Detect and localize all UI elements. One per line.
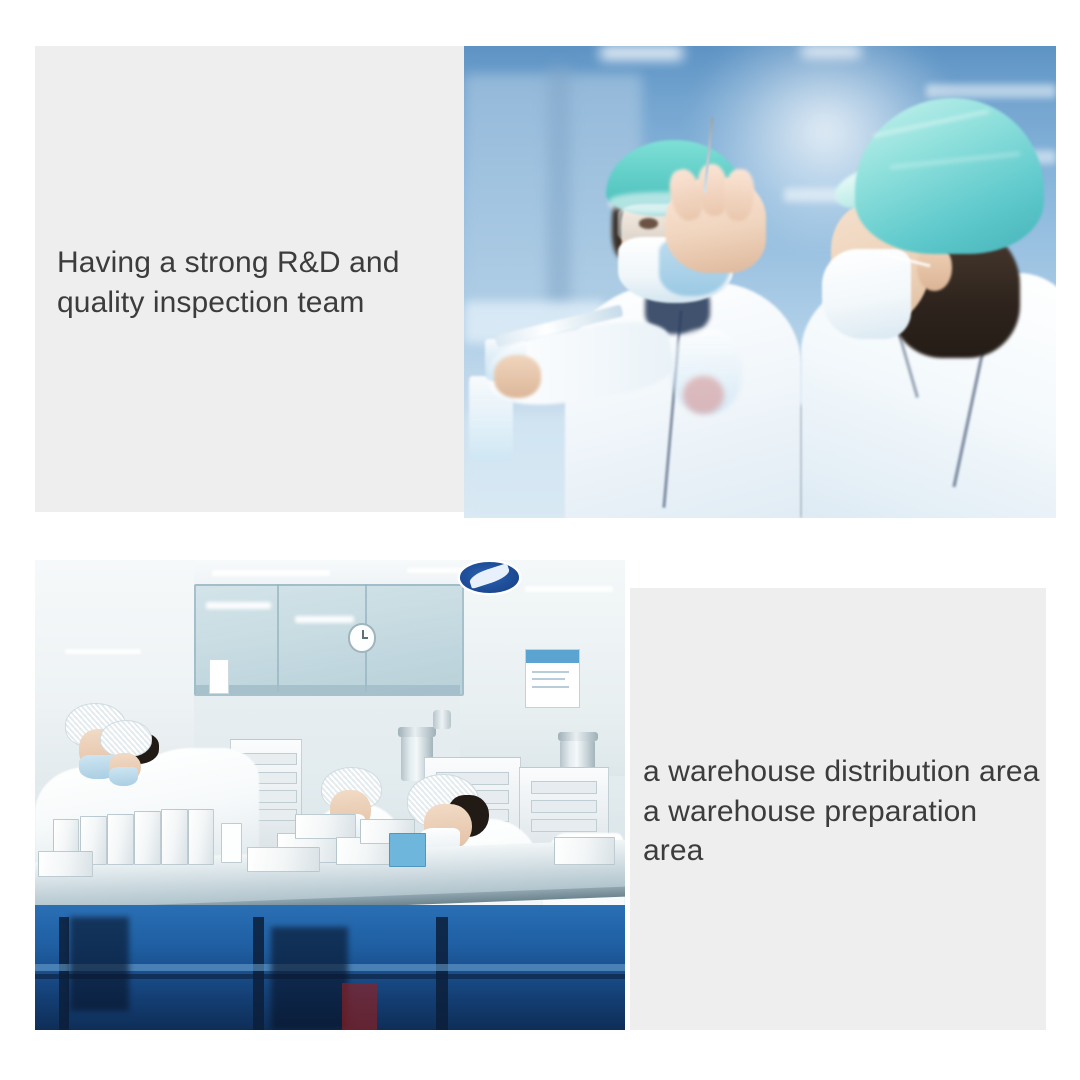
under-table-shadow	[70, 917, 129, 1011]
banner-page: Having a strong R&D and quality inspecti…	[0, 0, 1080, 1080]
poster-text-line	[532, 671, 569, 673]
steel-pot	[433, 710, 451, 729]
technician-right-face-mask	[822, 249, 911, 339]
box-stack-seam	[531, 819, 598, 832]
carton-box	[554, 837, 615, 865]
window-mullion	[277, 584, 279, 692]
canister-lid	[558, 732, 598, 741]
technician-left-eye	[639, 218, 658, 228]
product-box	[161, 809, 188, 865]
product-bottle	[221, 823, 242, 863]
canister-lid	[398, 727, 435, 736]
worker-bending-hairnet	[100, 720, 152, 757]
clock-hand-hour	[362, 637, 368, 639]
worker-bending-mask	[109, 767, 139, 786]
blue-label-item	[389, 833, 426, 868]
wall-notice-poster	[525, 649, 580, 707]
bottom-caption-text: a warehouse distribution area a warehous…	[643, 752, 1043, 871]
carton-box	[247, 847, 320, 873]
window-sill	[194, 685, 460, 694]
product-box	[188, 809, 214, 865]
carton-box	[295, 814, 356, 840]
fluorescent-tube-icon	[525, 586, 614, 592]
cleanroom-window	[194, 584, 464, 696]
warehouse-packing-photo	[35, 560, 625, 1030]
lab-quality-inspection-photo	[464, 46, 1056, 518]
poster-header-band	[526, 650, 579, 662]
carton-box	[38, 851, 93, 877]
fluorescent-tube-icon	[212, 570, 330, 576]
product-box	[134, 811, 161, 865]
fluorescent-tube-icon	[295, 616, 354, 623]
wall-clock-icon	[348, 623, 377, 652]
technician-left-hand	[494, 355, 541, 397]
top-caption-text: Having a strong R&D and quality inspecti…	[57, 243, 457, 322]
ceiling-light-icon	[801, 46, 860, 57]
lab-shelf	[926, 84, 1056, 98]
ceiling-light-icon	[600, 46, 683, 60]
under-table-red-bin	[342, 983, 377, 1030]
lab-cabinet-divider	[547, 65, 571, 310]
box-stack-seam	[531, 800, 598, 813]
poster-text-line	[532, 678, 565, 680]
wall-notice-small	[209, 659, 229, 694]
product-box	[107, 814, 134, 865]
poster-text-line	[532, 686, 569, 688]
fluorescent-tube-icon	[65, 649, 142, 654]
box-stack-seam	[531, 781, 598, 794]
fluorescent-tube-icon	[206, 602, 271, 609]
under-table-shadow	[271, 927, 348, 1030]
